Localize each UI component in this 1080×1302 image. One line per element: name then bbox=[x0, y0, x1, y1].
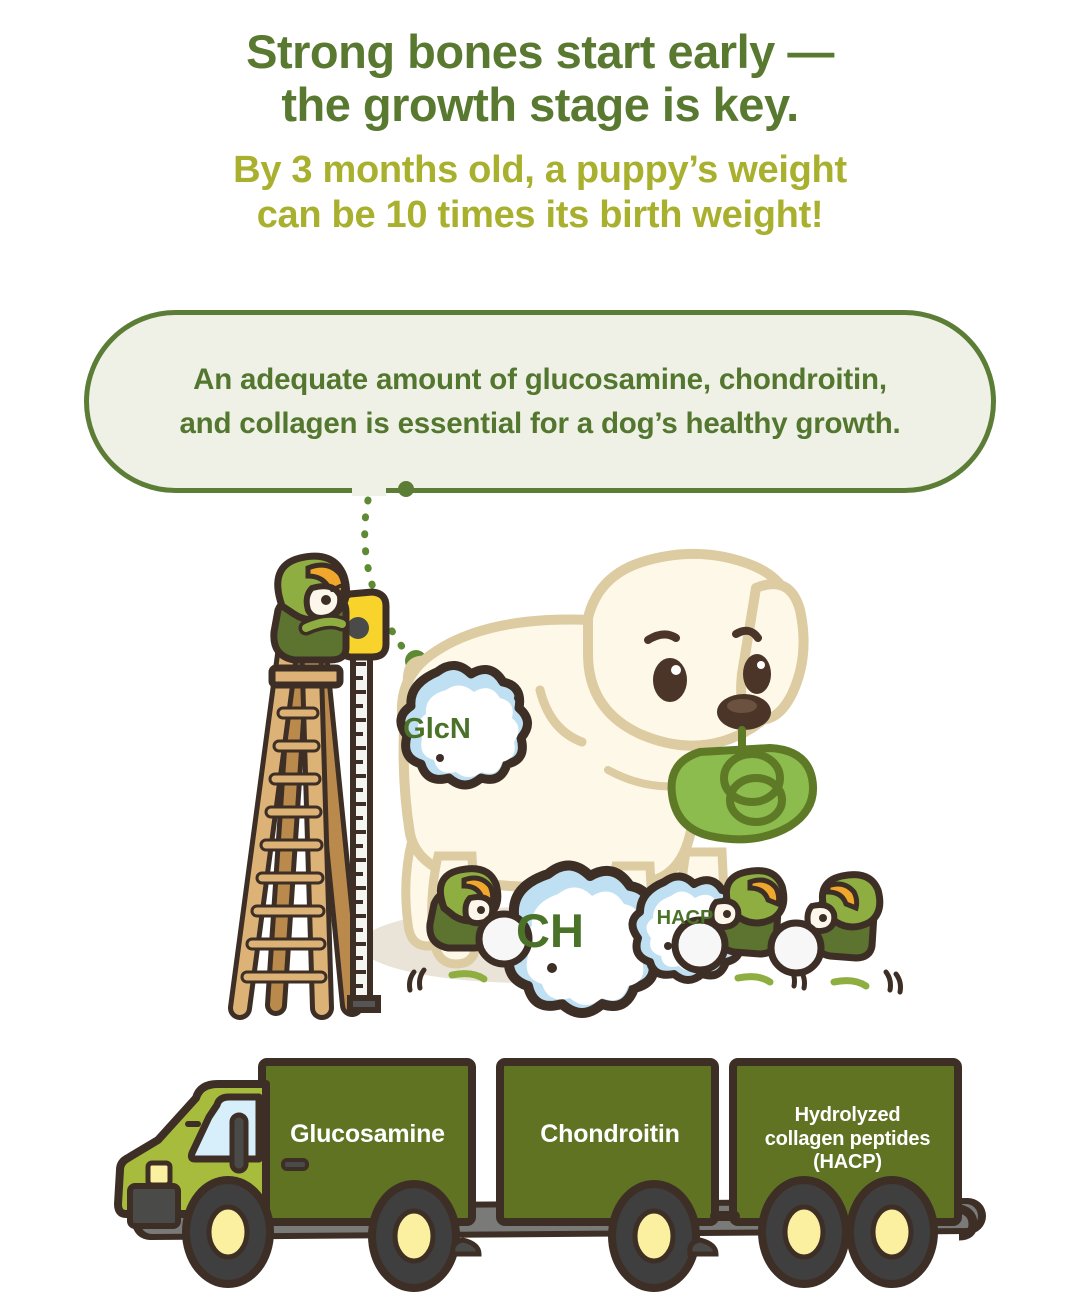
cargo-label-2-line-1: Chondroitin bbox=[510, 1120, 710, 1150]
cloud-label-ch: CH bbox=[495, 903, 605, 958]
cloud-label-glcn: GlcN bbox=[385, 713, 489, 746]
cloud-label-hacp: HACP bbox=[645, 907, 725, 930]
speech-bubble-notch bbox=[352, 484, 386, 496]
cargo-label-chondroitin: Chondroitin bbox=[510, 1120, 710, 1150]
worker-character-icon bbox=[274, 556, 347, 660]
cargo-label-glucosamine: Glucosamine bbox=[265, 1120, 470, 1150]
wheel-2 bbox=[372, 1184, 456, 1288]
wheel-1 bbox=[186, 1180, 270, 1284]
wheel-3 bbox=[612, 1184, 696, 1288]
wheel-4 bbox=[762, 1180, 846, 1284]
cargo-label-1-line-1: Glucosamine bbox=[265, 1120, 470, 1150]
cargo-label-3-line-2: collagen peptides bbox=[740, 1128, 955, 1152]
truck-icon bbox=[118, 1062, 973, 1288]
wheel-5 bbox=[850, 1180, 934, 1284]
worker-character-icon-3 bbox=[771, 875, 901, 992]
ladder-icon bbox=[240, 640, 352, 1008]
cargo-label-hacp: Hydrolyzed collagen peptides (HACP) bbox=[740, 1104, 955, 1175]
cargo-label-3-line-1: Hydrolyzed bbox=[740, 1104, 955, 1128]
cargo-label-3-line-3: (HACP) bbox=[740, 1151, 955, 1175]
speech-bubble-anchor-dot bbox=[398, 481, 414, 497]
